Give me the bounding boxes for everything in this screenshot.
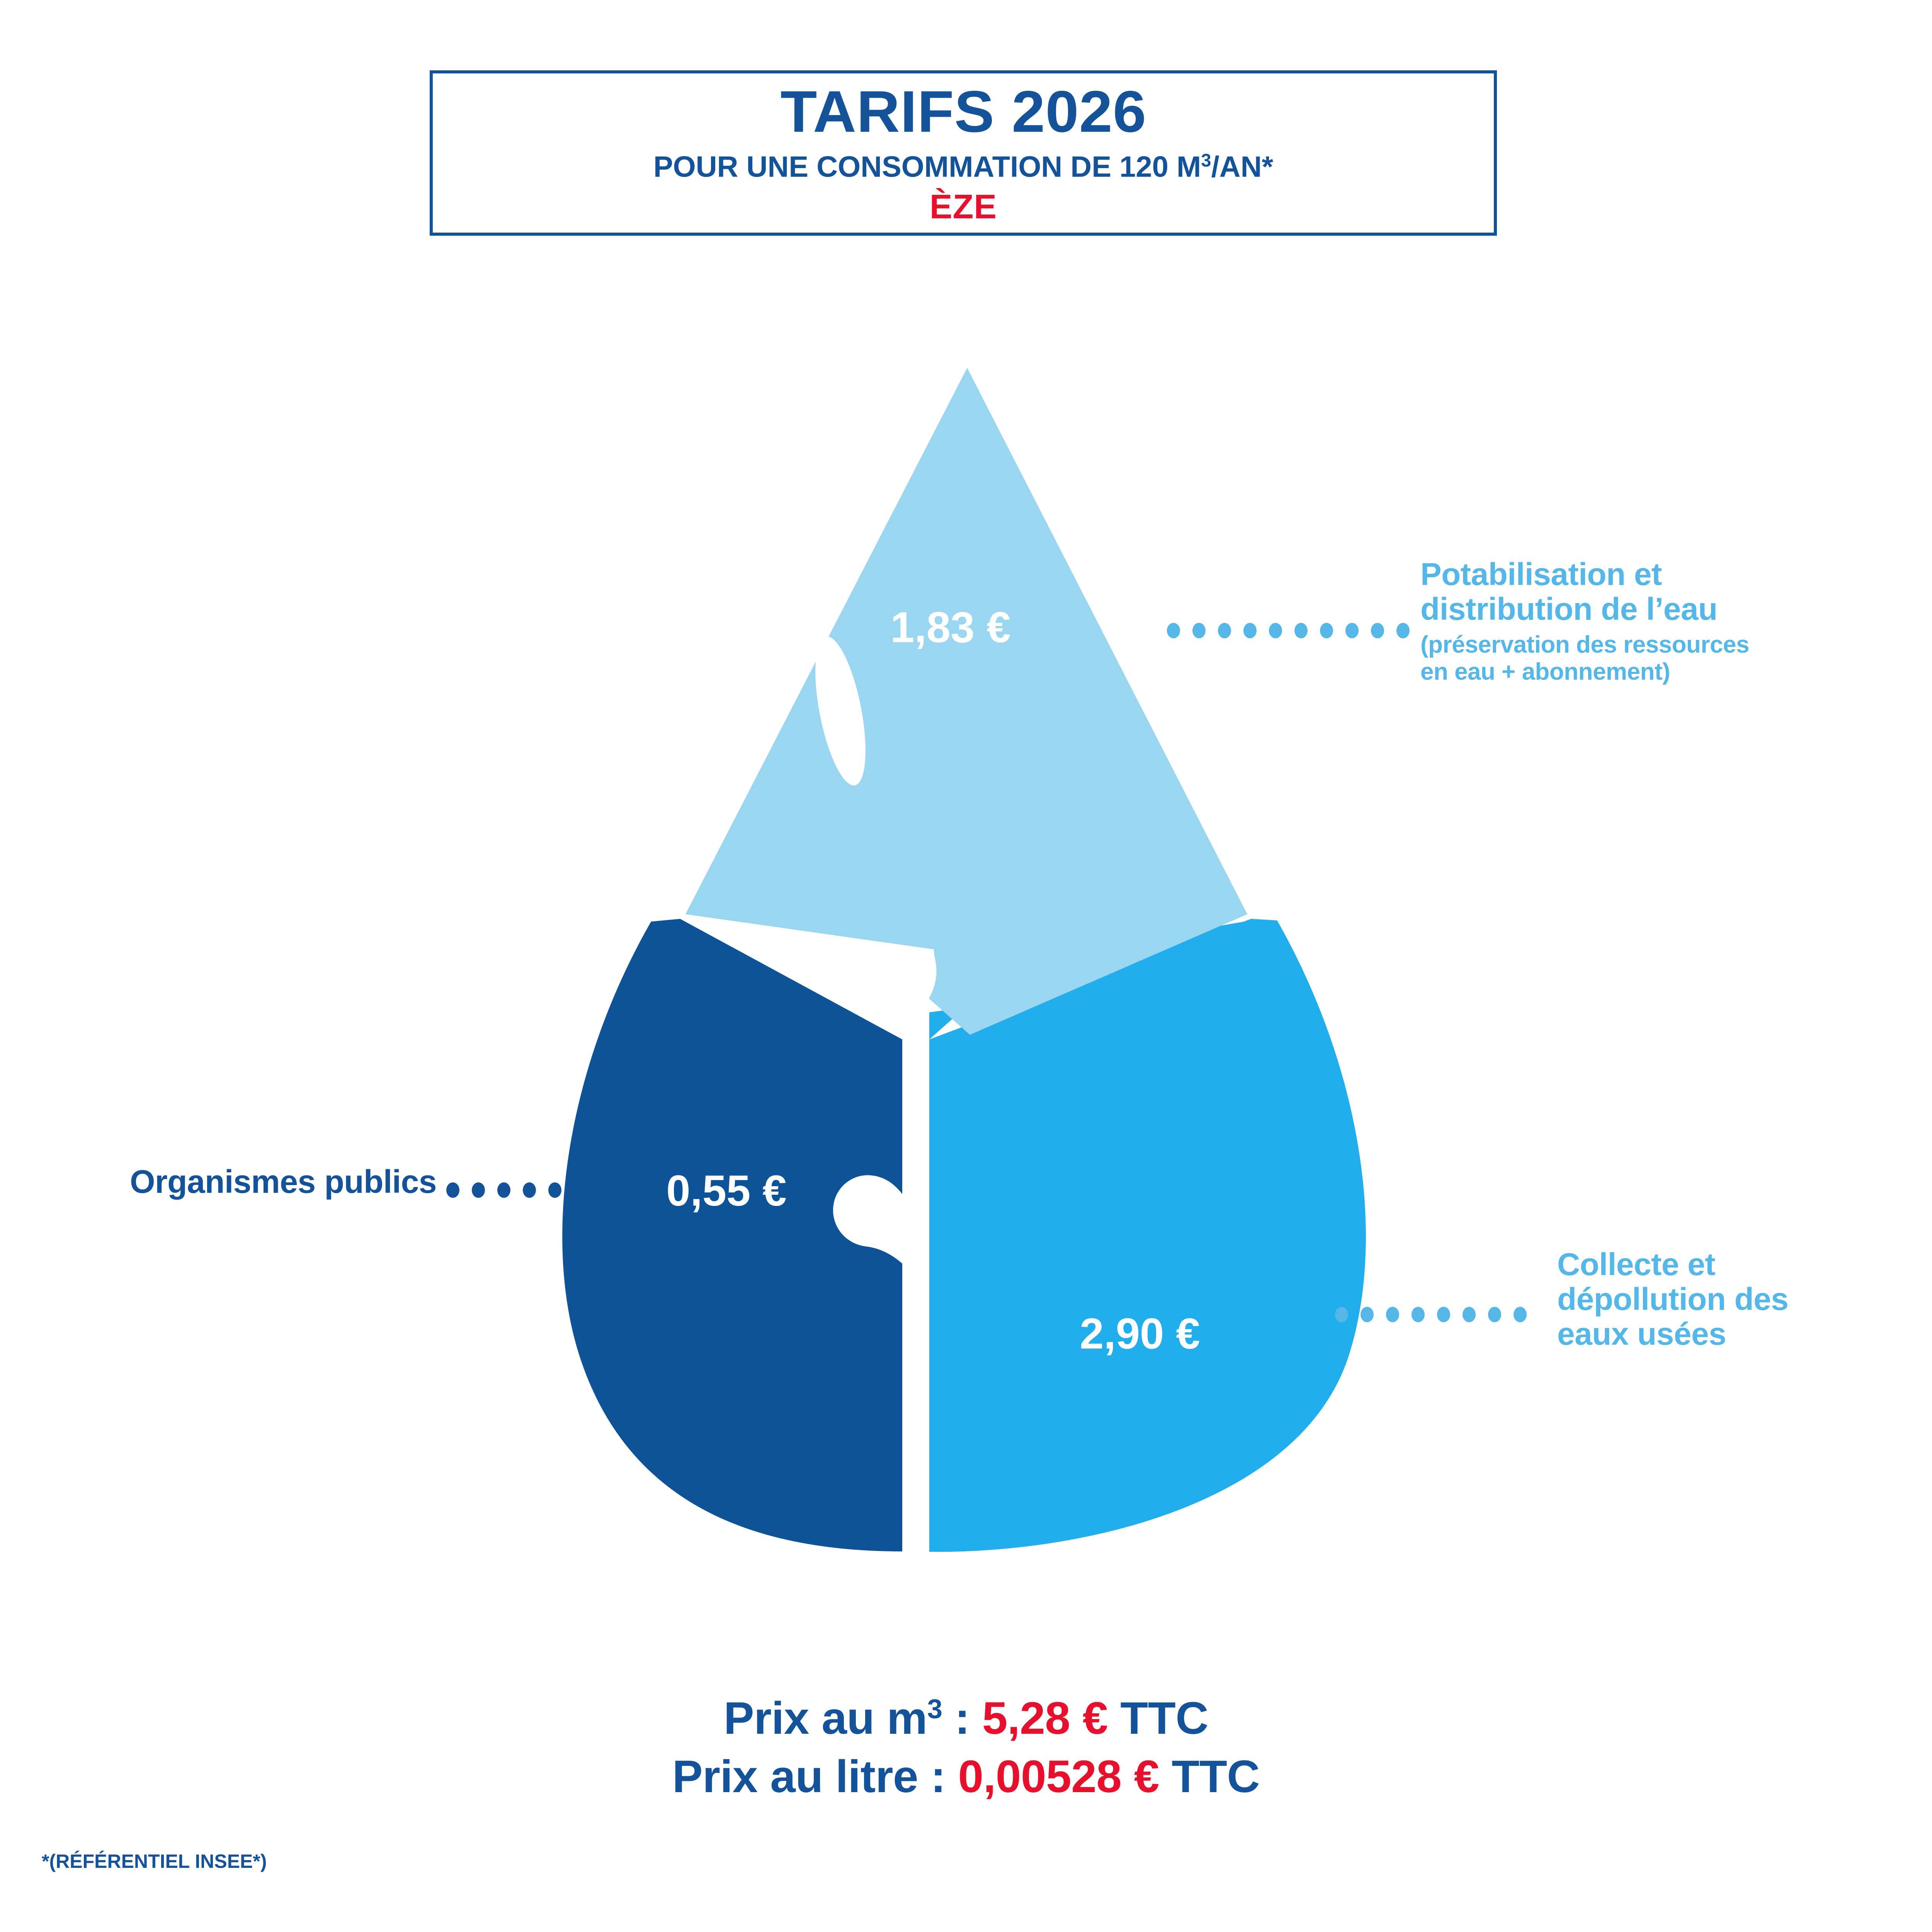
- dot-icon: [1345, 623, 1359, 638]
- callout-potabilisation-sub2: en eau + abonnement): [1420, 658, 1896, 685]
- price-per-m3-suffix: TTC: [1108, 1693, 1208, 1744]
- dot-icon: [446, 1182, 459, 1198]
- header-city: ÈZE: [930, 190, 997, 224]
- callout-collecte-line3: eaux usées: [1557, 1317, 1924, 1352]
- header-subtitle-suffix: /AN*: [1211, 151, 1273, 184]
- dot-icon: [548, 1182, 561, 1198]
- dot-icon: [1488, 1307, 1501, 1322]
- callout-potabilisation: Potabilisation et distribution de l’eau …: [1420, 557, 1896, 685]
- callout-potabilisation-sub1: (préservation des ressources: [1420, 631, 1896, 658]
- water-droplet-puzzle-chart: 1,83 € 0,55 € 2,90 €: [553, 359, 1379, 1557]
- value-label-organismes: 0,55 €: [666, 1167, 786, 1215]
- dot-icon: [1412, 1307, 1425, 1322]
- dot-icon: [523, 1182, 536, 1198]
- dot-icon: [1514, 1307, 1527, 1322]
- dot-icon: [1396, 623, 1410, 638]
- connector-dots-potabilisation: [1167, 623, 1422, 638]
- footnote: *(RÉFÉRENTIEL INSEE*): [42, 1850, 267, 1872]
- dot-icon: [1243, 623, 1257, 638]
- price-per-litre-value: 0,00528 €: [958, 1751, 1159, 1802]
- header-subtitle-superscript: 3: [1201, 150, 1211, 170]
- dot-icon: [1320, 623, 1333, 638]
- callout-collecte: Collecte et dépollution des eaux usées: [1557, 1247, 1924, 1352]
- price-per-m3-separator: :: [942, 1693, 982, 1744]
- header-subtitle: POUR UNE CONSOMMATION DE 120 M3/AN*: [653, 151, 1273, 182]
- callout-potabilisation-line2: distribution de l’eau: [1420, 592, 1896, 627]
- dot-icon: [1294, 623, 1308, 638]
- price-per-litre: Prix au litre : 0,00528 € TTC: [0, 1748, 1932, 1806]
- dot-icon: [1386, 1307, 1399, 1322]
- callout-collecte-line2: dépollution des: [1557, 1282, 1924, 1317]
- droplet-svg: 1,83 € 0,55 € 2,90 €: [553, 359, 1379, 1557]
- price-per-litre-suffix: TTC: [1159, 1751, 1260, 1802]
- dot-icon: [472, 1182, 485, 1198]
- callout-collecte-line1: Collecte et: [1557, 1247, 1924, 1282]
- price-per-m3-label: Prix au m: [724, 1693, 927, 1744]
- callout-organismes-line1: Organismes publics: [15, 1164, 437, 1199]
- dot-icon: [1218, 623, 1231, 638]
- dot-icon: [1192, 623, 1206, 638]
- dot-icon: [1269, 623, 1282, 638]
- dot-icon: [497, 1182, 510, 1198]
- dot-icon: [1463, 1307, 1476, 1322]
- price-per-m3-superscript: 3: [927, 1694, 942, 1725]
- value-label-potabilisation: 1,83 €: [890, 603, 1010, 651]
- header-box: TARIFS 2026 POUR UNE CONSOMMATION DE 120…: [430, 70, 1497, 236]
- dot-icon: [1437, 1307, 1450, 1322]
- callout-potabilisation-line1: Potabilisation et: [1420, 557, 1896, 592]
- connector-dots-collecte: [1335, 1307, 1539, 1322]
- dot-icon: [1361, 1307, 1374, 1322]
- droplet-segment-organismes[interactable]: [562, 919, 902, 1551]
- header-subtitle-prefix: POUR UNE CONSOMMATION DE 120 M: [653, 151, 1201, 184]
- dot-icon: [1335, 1307, 1348, 1322]
- droplet-segment-potabilisation-shape[interactable]: [685, 368, 1247, 1035]
- dot-icon: [1167, 623, 1180, 638]
- price-per-m3-value: 5,28 €: [982, 1693, 1108, 1744]
- value-label-collecte: 2,90 €: [1080, 1310, 1200, 1358]
- connector-dots-organismes: [446, 1182, 574, 1198]
- dot-icon: [1371, 623, 1384, 638]
- price-per-m3: Prix au m3 : 5,28 € TTC: [0, 1689, 1932, 1748]
- price-per-litre-label: Prix au litre :: [672, 1751, 958, 1802]
- page-title: TARIFS 2026: [780, 82, 1146, 141]
- price-summary: Prix au m3 : 5,28 € TTC Prix au litre : …: [0, 1689, 1932, 1806]
- callout-organismes: Organismes publics: [15, 1164, 437, 1199]
